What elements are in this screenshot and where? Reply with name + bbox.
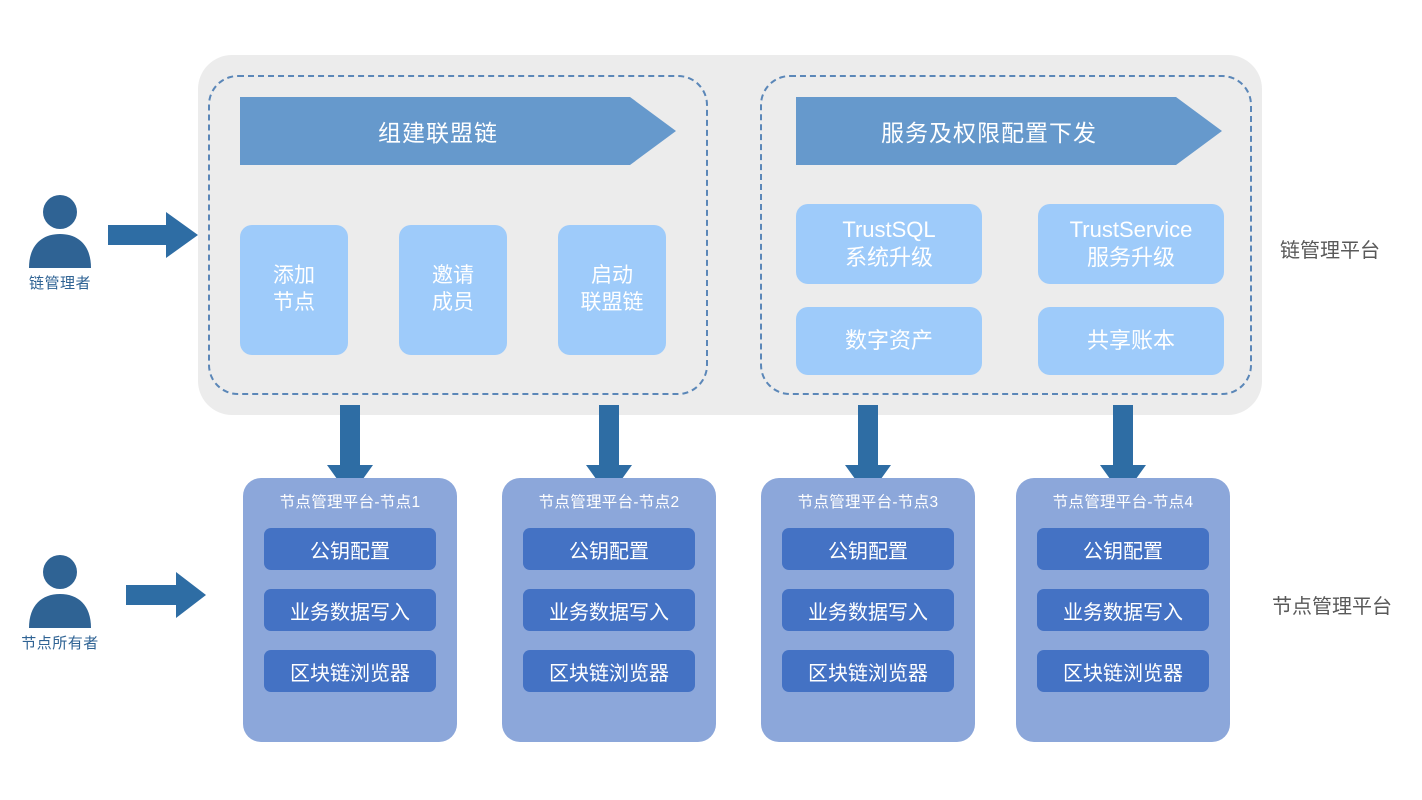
tile-start-chain[interactable]: 启动 联盟链 <box>558 225 666 355</box>
node-button-blockchain-explorer[interactable]: 区块链浏览器 <box>782 650 954 692</box>
tile-line1: 数字资产 <box>845 327 933 355</box>
tile-line2: 联盟链 <box>581 290 644 317</box>
tile-invite-member[interactable]: 邀请 成员 <box>399 225 507 355</box>
group-banner-service-config: 服务及权限配置下发 <box>796 97 1222 165</box>
node-button-blockchain-explorer[interactable]: 区块链浏览器 <box>264 650 436 692</box>
node-button-blockchain-explorer[interactable]: 区块链浏览器 <box>523 650 695 692</box>
card-title: 节点管理平台-节点4 <box>1016 490 1230 512</box>
card-title: 节点管理平台-节点3 <box>761 490 975 512</box>
tile-line2: 服务升级 <box>1087 244 1175 272</box>
node-button-business-data-write[interactable]: 业务数据写入 <box>264 589 436 631</box>
banner-label: 服务及权限配置下发 <box>881 114 1137 148</box>
group-banner-chain-build: 组建联盟链 <box>240 97 676 165</box>
banner-label: 组建联盟链 <box>378 114 538 148</box>
node-card-2[interactable]: 节点管理平台-节点2 公钥配置 业务数据写入 区块链浏览器 <box>502 478 716 742</box>
side-caption-node-platform: 节点管理平台 <box>1272 590 1392 619</box>
actor-chain-admin: 链管理者 <box>0 190 120 293</box>
node-button-business-data-write[interactable]: 业务数据写入 <box>523 589 695 631</box>
tile-digital-asset[interactable]: 数字资产 <box>796 307 982 375</box>
node-button-public-key-config[interactable]: 公钥配置 <box>1037 528 1209 570</box>
tile-line2: 系统升级 <box>845 244 933 272</box>
node-card-1[interactable]: 节点管理平台-节点1 公钥配置 业务数据写入 区块链浏览器 <box>243 478 457 742</box>
tile-line2: 成员 <box>432 290 474 317</box>
node-button-public-key-config[interactable]: 公钥配置 <box>523 528 695 570</box>
actor-node-owner: 节点所有者 <box>0 550 120 653</box>
tile-line1: 共享账本 <box>1087 327 1175 355</box>
tile-add-node[interactable]: 添加 节点 <box>240 225 348 355</box>
node-button-business-data-write[interactable]: 业务数据写入 <box>1037 589 1209 631</box>
node-button-blockchain-explorer[interactable]: 区块链浏览器 <box>1037 650 1209 692</box>
tile-line1: 添加 <box>273 263 315 290</box>
card-title: 节点管理平台-节点1 <box>243 490 457 512</box>
tile-line1: 启动 <box>591 263 633 290</box>
tile-shared-ledger[interactable]: 共享账本 <box>1038 307 1224 375</box>
node-button-public-key-config[interactable]: 公钥配置 <box>782 528 954 570</box>
diagram-canvas: 链管理者 节点所有者 组建联盟链 添加 节点 <box>0 0 1422 800</box>
tile-line1: 邀请 <box>432 263 474 290</box>
tile-line2: 节点 <box>273 290 315 317</box>
flow-arrow-node-owner <box>126 572 206 623</box>
service-config-group: 服务及权限配置下发 TrustSQL 系统升级 TrustService 服务升… <box>760 75 1252 395</box>
side-caption-chain-platform: 链管理平台 <box>1280 234 1380 263</box>
user-icon <box>0 550 120 628</box>
tile-line1: TrustSQL <box>842 216 935 244</box>
tile-trustservice-upgrade[interactable]: TrustService 服务升级 <box>1038 204 1224 284</box>
node-card-4[interactable]: 节点管理平台-节点4 公钥配置 业务数据写入 区块链浏览器 <box>1016 478 1230 742</box>
chain-build-group: 组建联盟链 添加 节点 邀请 成员 启动 联盟链 <box>208 75 708 395</box>
actor-label: 节点所有者 <box>0 632 120 653</box>
actor-label: 链管理者 <box>0 272 120 293</box>
tile-trustsql-upgrade[interactable]: TrustSQL 系统升级 <box>796 204 982 284</box>
flow-arrow-chain-admin <box>108 212 198 263</box>
node-card-3[interactable]: 节点管理平台-节点3 公钥配置 业务数据写入 区块链浏览器 <box>761 478 975 742</box>
node-button-business-data-write[interactable]: 业务数据写入 <box>782 589 954 631</box>
chain-management-container: 组建联盟链 添加 节点 邀请 成员 启动 联盟链 服务及权限配置下发 Trust… <box>198 55 1262 415</box>
user-icon <box>0 190 120 268</box>
node-button-public-key-config[interactable]: 公钥配置 <box>264 528 436 570</box>
tile-line1: TrustService <box>1070 216 1193 244</box>
card-title: 节点管理平台-节点2 <box>502 490 716 512</box>
